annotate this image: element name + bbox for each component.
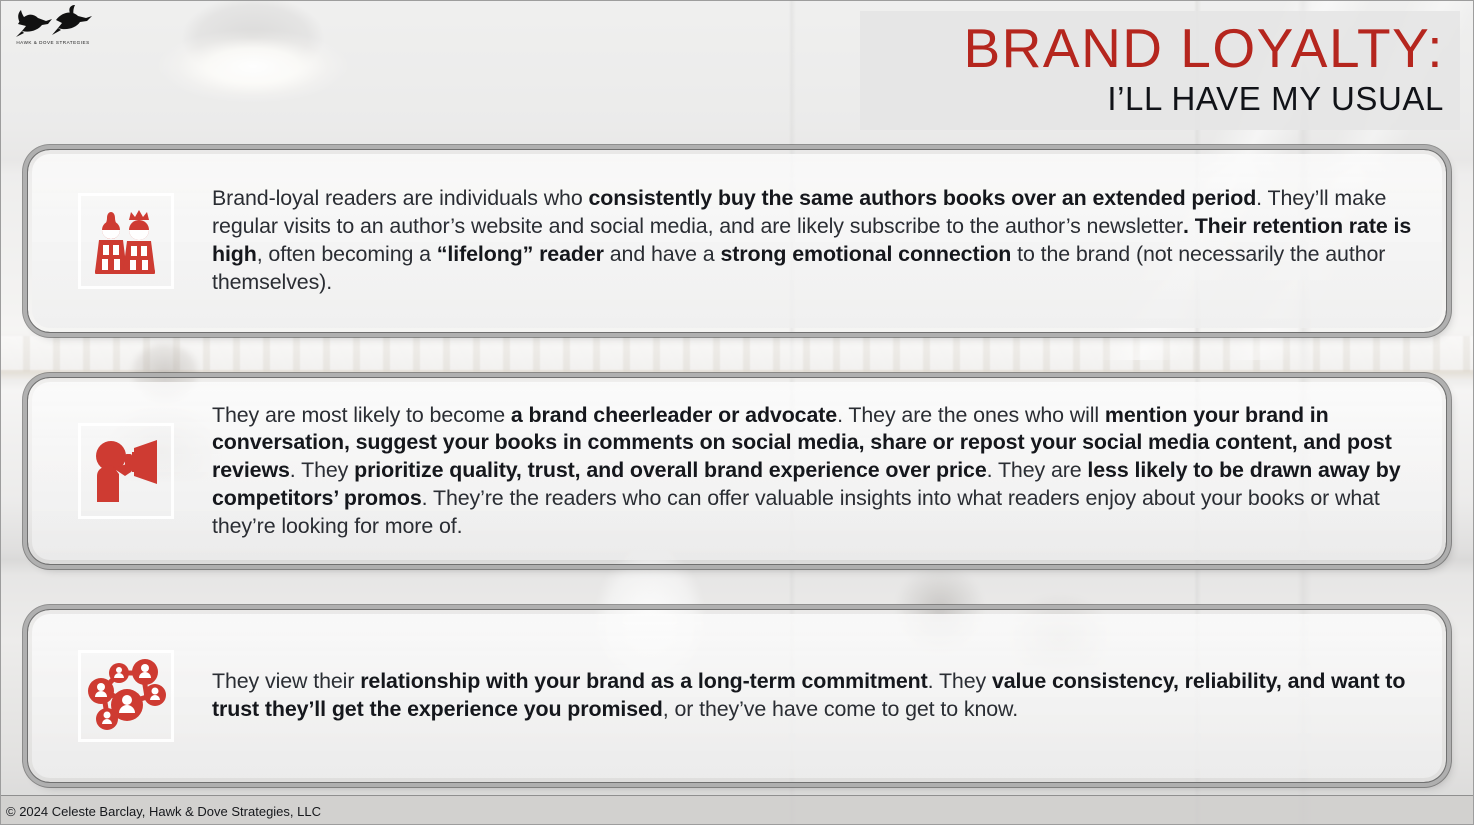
- content-card-2: They are most likely to become a brand c…: [28, 378, 1446, 564]
- card-3-text: They view their relationship with your b…: [212, 668, 1418, 724]
- content-card-1: Brand-loyal readers are individuals who …: [28, 150, 1446, 332]
- card-2-text: They are most likely to become a brand c…: [212, 402, 1418, 541]
- content-card-3: They view their relationship with your b…: [28, 610, 1446, 782]
- two-birds-icon: [8, 4, 94, 44]
- copyright-notice: © 2024 Celeste Barclay, Hawk & Dove Stra…: [6, 804, 321, 819]
- page-subtitle: I’LL HAVE MY USUAL: [860, 79, 1444, 119]
- logo-wordmark: HAWK & DOVE STRATEGIES: [12, 40, 94, 45]
- hawk-and-dove-logo: HAWK & DOVE STRATEGIES: [8, 4, 94, 52]
- card-1-text: Brand-loyal readers are individuals who …: [212, 185, 1418, 296]
- people-network-icon: [78, 650, 174, 742]
- page-title: BRAND LOYALTY:: [860, 17, 1444, 79]
- person-with-megaphone-icon: [78, 423, 174, 519]
- slide: HAWK & DOVE STRATEGIES BRAND LOYALTY: I’…: [0, 0, 1474, 825]
- royal-couple-icon: [78, 193, 174, 289]
- title-block: BRAND LOYALTY: I’LL HAVE MY USUAL: [860, 11, 1460, 130]
